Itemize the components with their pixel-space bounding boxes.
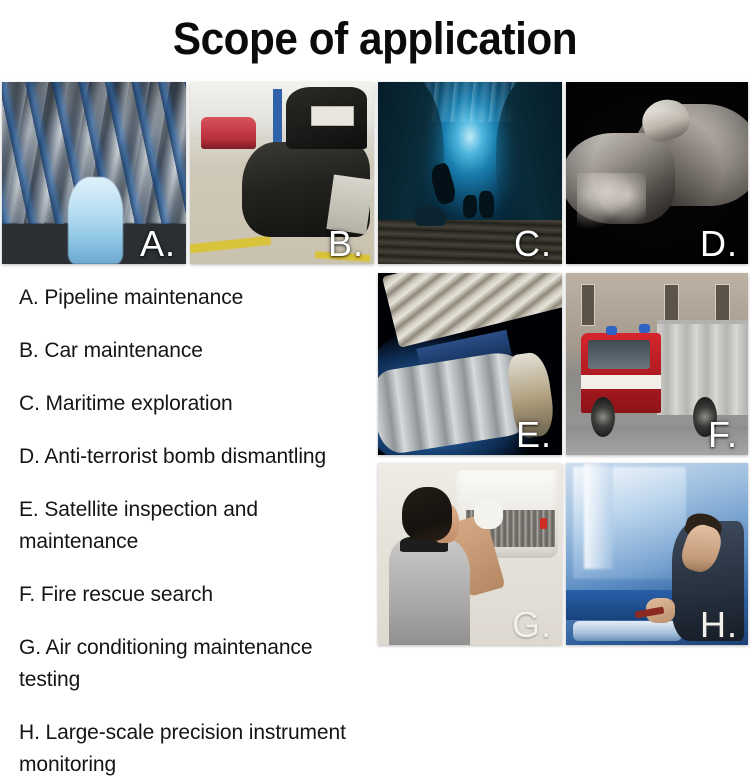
gallery-image-c[interactable]: C. — [378, 82, 562, 264]
gallery-image-d[interactable]: D. — [566, 82, 748, 264]
image-label-a: A. — [140, 226, 176, 262]
floor-marking-left — [190, 236, 271, 254]
white-stripe — [581, 375, 661, 390]
list-item: C. Maritime exploration — [19, 388, 379, 420]
diver-silhouette-3 — [479, 191, 494, 218]
machine-duct — [584, 463, 613, 569]
image-label-f: F. — [708, 417, 738, 453]
beacon-light-1 — [606, 326, 617, 335]
ac-indicator — [540, 518, 547, 529]
cab-windows — [588, 340, 650, 369]
page-title: Scope of application — [23, 14, 728, 64]
list-item: E. Satellite inspection and maintenance — [19, 494, 379, 558]
beacon-light-2 — [639, 324, 650, 333]
foreground-pipe — [573, 621, 682, 641]
hood-label — [311, 106, 353, 126]
application-list: A. Pipeline maintenance B. Car maintenan… — [19, 282, 379, 781]
gallery-image-f[interactable]: F. — [566, 273, 748, 455]
boulder — [415, 206, 446, 226]
building-window-1 — [581, 284, 596, 326]
diver-silhouette-2 — [463, 195, 478, 219]
gallery-image-a[interactable]: A. — [2, 82, 186, 264]
scope-of-application-page: Scope of application A. B. — [0, 0, 750, 750]
list-item: G. Air conditioning maintenance testing — [19, 632, 379, 696]
list-item: B. Car maintenance — [19, 335, 379, 367]
image-label-g: G. — [512, 607, 552, 643]
image-label-e: E. — [516, 417, 552, 453]
image-label-c: C. — [514, 226, 552, 262]
gallery-image-g[interactable]: G. — [378, 463, 562, 645]
list-item: F. Fire rescue search — [19, 579, 379, 611]
technician-torso — [389, 539, 470, 645]
gallery-image-b[interactable]: B. — [190, 82, 374, 264]
technician-glove — [474, 499, 503, 528]
background-red-car — [201, 117, 256, 150]
front-wheel — [591, 397, 615, 437]
list-item: A. Pipeline maintenance — [19, 282, 379, 314]
list-item: H. Large-scale precision instrument moni… — [19, 717, 379, 781]
list-item: D. Anti-terrorist bomb dismantling — [19, 441, 379, 473]
image-label-d: D. — [700, 226, 738, 262]
image-label-b: B. — [328, 226, 364, 262]
technician-hair — [402, 487, 452, 542]
rock-wall-right — [496, 82, 562, 231]
gallery-image-e[interactable]: E. — [378, 273, 562, 455]
gallery-image-h[interactable]: H. — [566, 463, 748, 645]
image-label-h: H. — [700, 607, 738, 643]
